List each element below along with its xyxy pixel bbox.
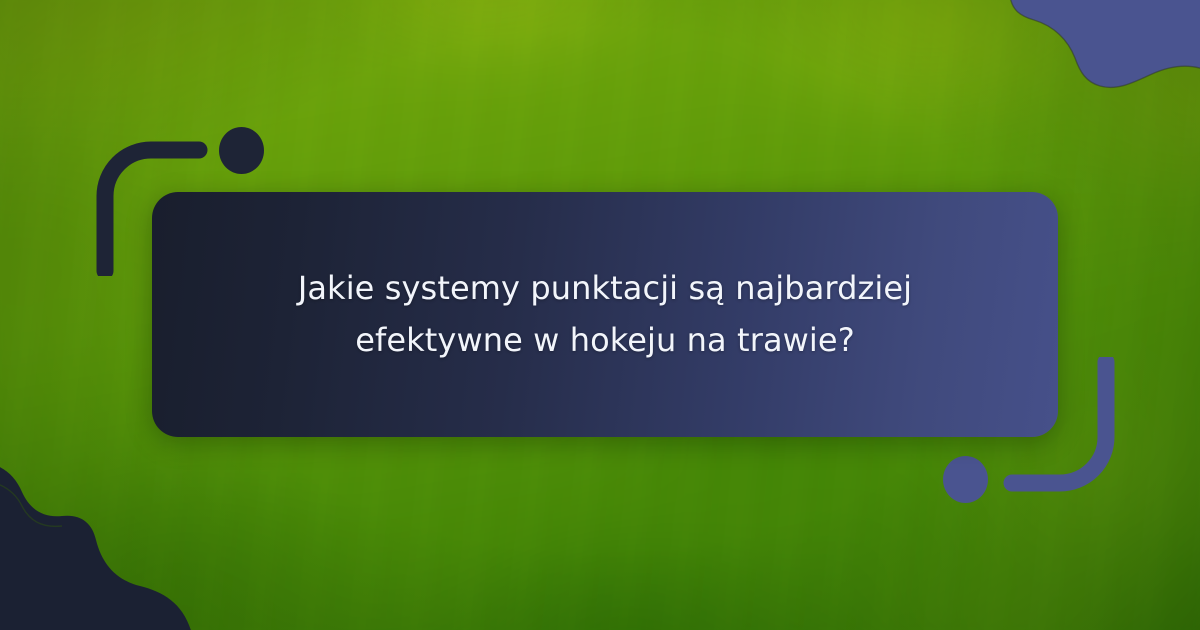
accent-dot-top-left-icon	[219, 127, 264, 174]
corner-blob-top-right-icon	[976, 0, 1200, 136]
question-card: Jakie systemy punktacji są najbardziej e…	[152, 192, 1058, 437]
social-card-canvas: Jakie systemy punktacji są najbardziej e…	[0, 0, 1200, 630]
corner-blob-bottom-left-icon	[0, 464, 222, 630]
question-text: Jakie systemy punktacji są najbardziej e…	[275, 263, 935, 367]
accent-dot-bottom-right-icon	[943, 456, 988, 503]
